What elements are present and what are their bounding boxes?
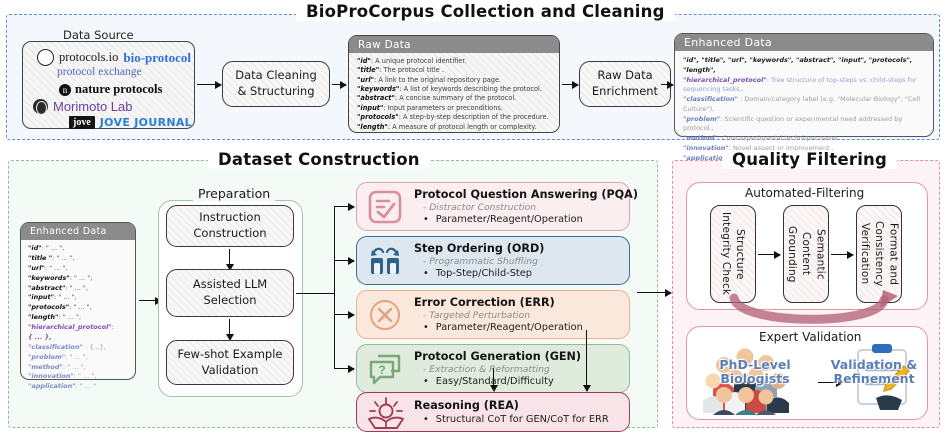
enhanced-data-left-field-value: : " ... ",: [42, 244, 65, 252]
enhanced-data-field-list-top: "id", "title", "url", "keywords", "abstr…: [683, 56, 927, 163]
data-cleaning-box: Data Cleaning & Structuring: [222, 61, 330, 107]
logo-protocolsio-label: protocols.io: [59, 50, 118, 65]
task-rea-title: Reasoning (REA): [414, 399, 519, 412]
filter-stage-semantic-content-grounding: Semantic Content Grounding: [783, 205, 829, 303]
enhanced-data-left-field: "protocols": " ... ",: [28, 303, 130, 313]
raw-data-field-key: "id": [357, 57, 371, 65]
enhanced-data-left-field-value: : " ... ",: [69, 303, 92, 311]
enhanced-data-box-top: Enhanced Data "id", "title", "url", "key…: [674, 33, 934, 137]
enhanced-data-left-field-key: "protocols": [28, 303, 69, 311]
enhanced-data-left-field-key: "innovation": [28, 372, 74, 380]
raw-data-field-desc: : A measure of protocol length or comple…: [388, 123, 537, 131]
globe-icon: [33, 99, 48, 114]
enhanced-data-left-field-key: "abstract": [28, 284, 65, 292]
arrow-to-task-pqa: [334, 206, 354, 207]
task-err-bullet: Parameter/Reagent/Operation: [423, 322, 583, 333]
enhanced-data-field-desc: : Core experimental technique name,: [718, 134, 840, 142]
line-err-drop: [586, 330, 587, 342]
enhanced-data-left-field-value: :: [112, 323, 114, 331]
enhanced-data-inherited-keys: "id", "title", "url", "keywords", "abstr…: [683, 56, 927, 76]
task-ord-subtitle: - Programmatic Shuffling: [423, 256, 538, 267]
enhanced-data-left-field-key: "keywords": [28, 274, 70, 282]
arrow-prep-2-3: [229, 319, 230, 335]
filter-stage-format-consistency-verification: Format and Consistency Verification: [856, 205, 902, 303]
logo-morimoto-lab: Morimoto Lab: [33, 99, 132, 114]
arrow-stage-1-2: [758, 254, 780, 255]
prep-step-1-line1: Instruction: [193, 210, 266, 226]
enhanced-data-left-field: "problem": " ... ",: [28, 353, 130, 363]
arrow-raw-to-enrichment: [562, 84, 578, 85]
raw-data-field-key: "protocols": [357, 113, 399, 121]
arrow-prep-1-2: [229, 249, 230, 265]
enhanced-data-left-field-key: "title ": [28, 254, 52, 262]
enhanced-data-box-left: Enhanced Data "id": " ... ","title ": " …: [20, 222, 136, 380]
enhanced-data-left-field-value: : " ... ",: [52, 254, 75, 262]
enhanced-data-field: "classification" : Domain/category label…: [683, 95, 927, 115]
raw-data-field-desc: : A concise summary of the protocol.: [395, 94, 516, 102]
data-source-box: protocols.io bio-protocol protocol excha…: [22, 41, 195, 129]
raw-data-field: "keywords": A list of keywords describin…: [357, 85, 553, 94]
raw-data-field: "id": A unique protocol identifier.: [357, 57, 553, 66]
enhanced-data-left-field-value: : " ... ": [76, 382, 97, 390]
fanout-spine: [334, 206, 335, 368]
raw-data-field: "abstract": A concise summary of the pro…: [357, 94, 553, 103]
jove-badge-icon: jove: [69, 116, 95, 129]
raw-data-field-key: "title": [357, 66, 379, 74]
enhanced-data-left-field: "title ": " ... ",: [28, 254, 130, 264]
shuffle-blocks-icon: [367, 244, 407, 280]
prep-step-3-line1: Few-shot Example: [178, 347, 283, 363]
raw-data-field-desc: : A list of keywords describing the prot…: [399, 85, 542, 93]
raccoon-icon: [37, 49, 54, 66]
enhanced-data-left-field: "length": " ... ",: [28, 313, 130, 323]
raw-data-field-desc: : Input parameters or preconditions.: [383, 104, 503, 112]
logo-nature-protocols: n nature protocols: [59, 82, 162, 97]
preparation-step-fewshot-validation: Few-shot Example Validation: [166, 340, 294, 385]
raw-data-field: "input": Input parameters or preconditio…: [357, 104, 553, 113]
data-cleaning-line2: & Structuring: [235, 84, 317, 100]
fanout-trunk: [296, 293, 334, 294]
enhanced-data-left-field-key: "classification": [28, 343, 83, 351]
enhanced-data-field: "hierarchical_protocol": Tree structure …: [683, 76, 927, 96]
enhanced-data-left-field-value: : " ... ",: [65, 353, 88, 361]
task-ord-title: Step Ordering (ORD): [414, 242, 544, 255]
enhanced-data-left-field-key: "input": [28, 293, 54, 301]
x-circle-icon: [367, 298, 407, 334]
enhanced-data-left-field: "abstract": " ... ",: [28, 284, 130, 294]
enrichment-line2: Enrichment: [592, 84, 658, 100]
raw-data-field-desc: : The protocol title .: [379, 66, 444, 74]
svg-text:?: ?: [378, 363, 385, 377]
arrow-to-task-ord: [334, 260, 354, 261]
enhanced-data-left-field-key: "method": [28, 363, 63, 371]
logo-morimoto-lab-label: Morimoto Lab: [53, 99, 132, 114]
enhanced-data-left-field-key: "application": [28, 382, 76, 390]
raw-data-field: "protocols": A step-by-step description …: [357, 113, 553, 122]
raw-data-field-list: "id": A unique protocol identifier."titl…: [357, 57, 553, 132]
task-card-rea[interactable]: Reasoning (REA) Structural CoT for GEN/C…: [356, 392, 630, 432]
chat-question-icon: ?: [367, 352, 407, 388]
enhanced-data-left-field: "classification" : {...},: [28, 343, 130, 353]
expert-right-label: Validation & Refinement: [822, 358, 926, 387]
prep-step-3-line2: Validation: [178, 363, 283, 379]
enhanced-data-field: "problem": Scientific question or experi…: [683, 115, 927, 135]
logo-bioprotocol-label: bio-protocol: [123, 50, 191, 66]
preparation-label: Preparation: [193, 186, 275, 201]
prep-step-2-line1: Assisted LLM: [193, 277, 267, 293]
filter-stage-3-label: Format and Consistency Verification: [858, 206, 901, 302]
arrow-err-to-rea: [586, 339, 587, 386]
task-gen-bullet: Easy/Standard/Difficulty: [423, 376, 554, 387]
task-gen-subtitle: - Extraction & Reformatting: [423, 364, 550, 375]
enhanced-data-left-field-value: : {...},: [83, 343, 106, 351]
raw-data-field: "length": A measure of protocol length o…: [357, 123, 553, 132]
arrow-source-to-cleaning: [197, 84, 221, 85]
raw-data-field-desc: : A unique protocol identifier.: [371, 57, 467, 65]
arrow-enrichment-to-enhanced: [661, 84, 673, 85]
enhanced-data-left-field-value: : " ... ",: [70, 274, 93, 282]
arrow-to-task-err: [334, 314, 354, 315]
task-gen-title: Protocol Generation (GEN): [414, 350, 581, 363]
data-cleaning-line1: Data Cleaning: [235, 68, 317, 84]
raw-data-field-desc: : A step-by-step description of the proc…: [399, 113, 549, 121]
enhanced-data-field-key: "problem": [683, 115, 720, 123]
task-ord-bullet: Top-Step/Child-Step: [423, 268, 532, 279]
enhanced-data-header-top: Enhanced Data: [675, 34, 933, 51]
raw-data-field-key: "url": [357, 76, 374, 84]
task-pqa-title: Protocol Question Answering (PQA): [414, 188, 638, 201]
enhanced-data-left-field-value: : " ... ",: [65, 284, 88, 292]
enhanced-data-field-key: "hierarchical_protocol": [683, 76, 767, 84]
logo-jove: jove JOVE JOURNAL: [69, 116, 192, 129]
enhanced-data-left-field-value: : " ... ",: [54, 293, 77, 301]
task-pqa-subtitle: - Distractor Construction: [423, 202, 536, 213]
preparation-step-assisted-llm-selection: Assisted LLM Selection: [166, 269, 294, 317]
arrow-stage-2-3: [831, 254, 853, 255]
section-quality-title: Quality Filtering: [722, 150, 897, 169]
raw-data-field: "url": A link to the original repository…: [357, 76, 553, 85]
raw-data-field: "title": The protocol title .: [357, 66, 553, 75]
filter-stage-1-label: Structure Integrity Check: [719, 206, 747, 302]
raw-data-field-desc: : A link to the original repository page…: [374, 76, 501, 84]
n-badge-icon: n: [59, 84, 71, 96]
enhanced-data-header-left: Enhanced Data: [21, 223, 135, 240]
prep-step-2-line2: Selection: [193, 293, 267, 309]
raw-data-field-key: "length": [357, 123, 388, 131]
task-card-pqa[interactable]: Protocol Question Answering (PQA) - Dist…: [356, 182, 630, 231]
enhanced-data-left-field: "keywords": " ... ",: [28, 274, 130, 284]
checklist-icon: [367, 190, 407, 226]
raw-data-field-key: "keywords": [357, 85, 399, 93]
enhanced-data-left-field-key: "length": [28, 313, 58, 321]
logo-nature-protocols-label: nature protocols: [75, 82, 162, 97]
enhanced-data-left-field: "url": " ... ",: [28, 264, 130, 274]
raw-data-field-key: "input": [357, 104, 383, 112]
logo-protocolsio: protocols.io bio-protocol: [37, 49, 191, 66]
enhanced-data-left-field-key: { ... },: [28, 333, 52, 341]
enhanced-data-field-key: "method": [683, 134, 718, 142]
enhanced-data-left-field-key: "id": [28, 244, 42, 252]
section-collection-title: BioProCorpus Collection and Cleaning: [296, 2, 675, 21]
section-dataset-title: Dataset Construction: [208, 150, 430, 169]
task-card-err[interactable]: Error Correction (ERR) - Targeted Pertur…: [356, 290, 630, 339]
enhanced-data-left-field: "input": " ... ",: [28, 293, 130, 303]
raw-data-field-key: "abstract": [357, 94, 395, 102]
data-source-label: Data Source: [63, 28, 134, 42]
logo-protocol-exchange: protocol exchange: [57, 66, 142, 78]
enhanced-data-left-field: "application": " ... ": [28, 382, 130, 392]
enhanced-data-left-field-key: "hierarchical_protocol": [28, 323, 112, 331]
task-rea-bullet: Structural CoT for GEN/CoT for ERR: [423, 414, 609, 425]
enhanced-data-left-field: "method": " ... ",: [28, 363, 130, 373]
task-card-ord[interactable]: Step Ordering (ORD) - Programmatic Shuff…: [356, 236, 630, 285]
logo-protocol-exchange-label: protocol exchange: [57, 66, 142, 78]
raw-data-enrichment-box: Raw Data Enrichment: [579, 61, 671, 107]
enhanced-data-left-field: "innovation": " ... ",: [28, 372, 130, 382]
enhanced-data-left-field-value: : " ... ",: [74, 372, 97, 380]
enhanced-data-field: "method": Core experimental technique na…: [683, 134, 927, 144]
task-err-subtitle: - Targeted Perturbation: [423, 310, 530, 321]
enhanced-data-left-field-key: "problem": [28, 353, 65, 361]
arrow-gen-to-rea: [493, 368, 494, 386]
enrichment-line1: Raw Data: [592, 68, 658, 84]
arrow-dataset-to-quality: [637, 292, 671, 293]
enhanced-data-left-field-key: "url": [28, 264, 45, 272]
enhanced-data-left-field: "id": " ... ",: [28, 244, 130, 254]
task-pqa-bullet: Parameter/Reagent/Operation: [423, 214, 583, 225]
logo-jove-label: JOVE JOURNAL: [100, 116, 192, 129]
enhanced-data-left-field-value: : " ... ",: [45, 264, 68, 272]
enhanced-data-left-field-value: : " ... ",: [58, 313, 81, 321]
enhanced-data-left-field: { ... },: [28, 333, 130, 343]
preparation-step-instruction-construction: Instruction Construction: [166, 205, 294, 247]
enhanced-data-field-list-left: "id": " ... ","title ": " ... ","url": "…: [28, 244, 130, 392]
filter-stage-2-label: Semantic Content Grounding: [785, 206, 828, 302]
enhanced-data-left-field-value: : " ... ",: [63, 363, 86, 371]
arrow-to-task-gen: [334, 368, 354, 369]
expert-left-label: PhD-Level Biologists: [700, 358, 810, 387]
automated-filtering-label: Automated-Filtering: [741, 186, 868, 200]
raw-data-header: Raw Data: [349, 36, 559, 53]
prep-step-1-line2: Construction: [193, 226, 266, 242]
filter-stage-structure-integrity-check: Structure Integrity Check: [710, 205, 756, 303]
enhanced-data-left-field: "hierarchical_protocol":: [28, 323, 130, 333]
book-idea-icon: [367, 397, 407, 431]
enhanced-data-field-key: "classification": [683, 95, 738, 103]
arrow-cleaning-to-raw: [332, 84, 346, 85]
raw-data-box: Raw Data "id": A unique protocol identif…: [348, 35, 560, 133]
task-err-title: Error Correction (ERR): [414, 296, 555, 309]
